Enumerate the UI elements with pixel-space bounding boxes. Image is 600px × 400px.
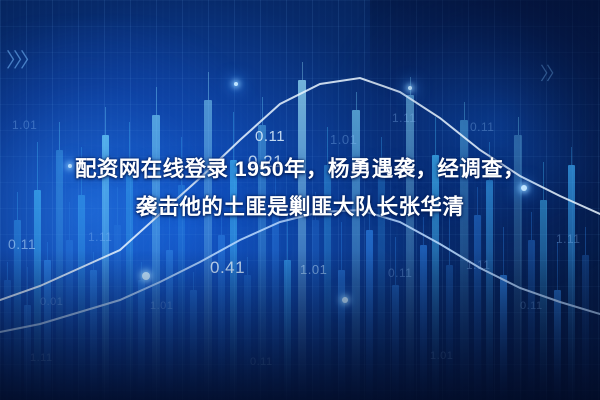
headline-line-2: 袭击他的土匪是剿匪大队长张华清 [0,188,600,226]
vignette-top-right [370,0,600,170]
stock-background-banner: 0.110.211.011.110.111.010.111.111.110.41… [0,0,600,400]
headline-line-1: 配资网在线登录 1950年，杨勇遇袭，经调查， [0,150,600,188]
ticker-number: 1.01 [330,132,357,147]
ticker-number: 1.11 [556,232,580,246]
glow-dot [234,82,238,86]
ticker-number: 0.11 [255,128,285,145]
chevron-icon: 〉〉〉 [6,44,37,73]
ticker-number: 1.11 [88,230,112,244]
vignette-bottom [0,250,600,400]
ticker-number: 1.01 [12,118,37,132]
headline-text: 配资网在线登录 1950年，杨勇遇袭，经调查， 袭击他的土匪是剿匪大队长张华清 [0,150,600,226]
